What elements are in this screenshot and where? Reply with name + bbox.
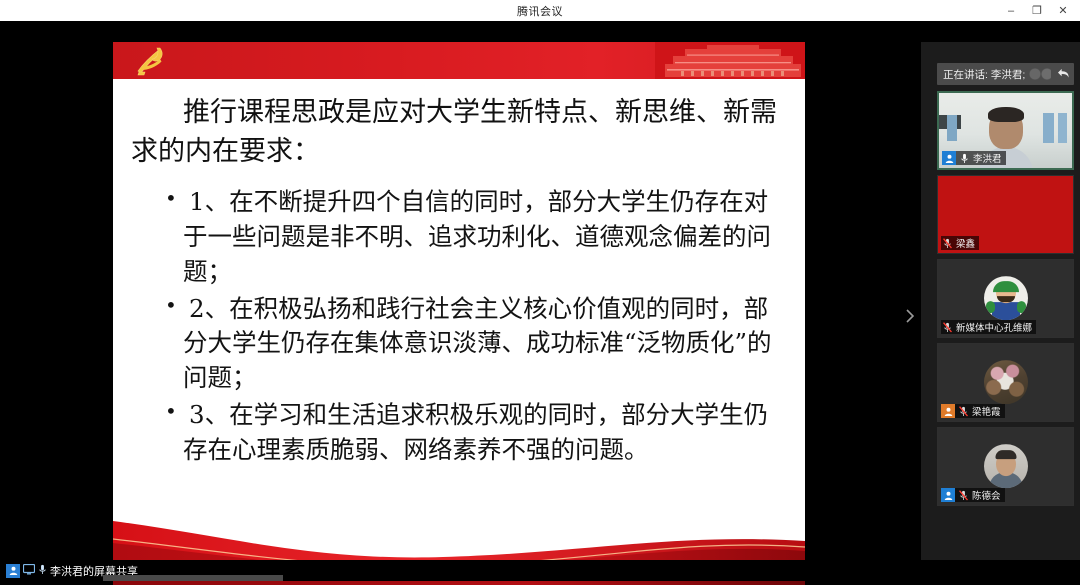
- stage-top-edge: [0, 21, 1080, 24]
- avatar: [941, 404, 955, 418]
- avatar: [941, 488, 955, 502]
- participant-name: 李洪君: [973, 151, 1002, 165]
- sidebar-collapse-handle[interactable]: [903, 296, 917, 336]
- chevron-right-icon: [906, 309, 914, 323]
- participants-sidebar: 正在讲话: 李洪君;: [921, 42, 1080, 581]
- video-background-object: [1043, 113, 1054, 143]
- speaker-names-overflow: [1029, 68, 1051, 80]
- participant-name: 梁鑫: [956, 236, 975, 250]
- person-icon: [6, 564, 20, 578]
- active-speaker-label: 正在讲话: 李洪君;: [943, 67, 1025, 82]
- microphone-icon: [38, 564, 47, 578]
- participant-name: 新媒体中心孔维娜: [956, 320, 1032, 334]
- maximize-button[interactable]: ❐: [1024, 1, 1050, 21]
- meeting-stage: 推行课程思政是应对大学生新特点、新思维、新需求的内在要求： 1、在不断提升四个自…: [0, 21, 1080, 560]
- slide-title: 推行课程思政是应对大学生新特点、新思维、新需求的内在要求：: [127, 87, 791, 171]
- shared-screen-slide[interactable]: 推行课程思政是应对大学生新特点、新思维、新需求的内在要求： 1、在不断提升四个自…: [113, 42, 805, 585]
- video-background-object: [947, 115, 957, 141]
- participant-tile[interactable]: 梁艳霞: [937, 343, 1074, 422]
- avatar: [984, 444, 1028, 488]
- tiananmen-icon: [655, 42, 805, 79]
- participant-tile[interactable]: 李洪君: [937, 91, 1074, 170]
- close-button[interactable]: ✕: [1050, 1, 1076, 21]
- video-background-object: [1058, 113, 1067, 143]
- participant-tile[interactable]: 梁鑫: [937, 175, 1074, 254]
- avatar: [942, 151, 956, 165]
- participant-tile[interactable]: 新媒体中心孔维娜: [937, 259, 1074, 338]
- participant-tile[interactable]: 陈德会: [937, 427, 1074, 506]
- microphone-muted-icon: [957, 406, 969, 417]
- slide-bullet-list: 1、在不断提升四个自信的同时，部分大学生仍存在对于一些问题是非不明、追求功利化、…: [127, 185, 791, 467]
- slide-bullet-item: 3、在学习和生活追求积极乐观的同时，部分大学生仍存在心理素质脆弱、网络素养不强的…: [157, 398, 791, 468]
- avatar: [984, 276, 1028, 320]
- slide-body: 推行课程思政是应对大学生新特点、新思维、新需求的内在要求： 1、在不断提升四个自…: [113, 79, 805, 537]
- window-controls: – ❐ ✕: [998, 0, 1076, 21]
- participant-name: 梁艳霞: [972, 404, 1001, 418]
- slide-bullet-item: 1、在不断提升四个自信的同时，部分大学生仍存在对于一些问题是非不明、追求功利化、…: [157, 185, 791, 289]
- screen-share-icon: [23, 564, 35, 578]
- microphone-muted-icon: [941, 238, 953, 249]
- microphone-muted-icon: [941, 322, 953, 333]
- participant-name-badge: 新媒体中心孔维娜: [941, 320, 1036, 334]
- microphone-muted-icon: [957, 490, 969, 501]
- taskbar-tray[interactable]: [103, 575, 283, 581]
- bottom-taskbar: 李洪君的屏幕共享: [0, 560, 1080, 581]
- slide-bullet-item: 2、在积极弘扬和践行社会主义核心价值观的同时，部分大学生仍存在集体意识淡薄、成功…: [157, 292, 791, 396]
- participant-name-badge: 梁鑫: [941, 236, 979, 250]
- return-arrow-icon[interactable]: [1051, 67, 1070, 82]
- window-title: 腾讯会议: [517, 3, 563, 19]
- party-emblem-icon: [133, 45, 167, 76]
- minimize-button[interactable]: –: [998, 1, 1024, 21]
- participant-name-badge: 梁艳霞: [941, 404, 1005, 418]
- microphone-icon: [958, 153, 970, 164]
- window-title-bar: 腾讯会议 – ❐ ✕: [0, 0, 1080, 21]
- participant-name-badge: 陈德会: [941, 488, 1005, 502]
- avatar: [984, 360, 1028, 404]
- slide-banner: [113, 42, 805, 79]
- participant-name-badge: 李洪君: [942, 151, 1006, 165]
- participant-name: 陈德会: [972, 488, 1001, 502]
- active-speaker-bar: 正在讲话: 李洪君;: [937, 63, 1074, 85]
